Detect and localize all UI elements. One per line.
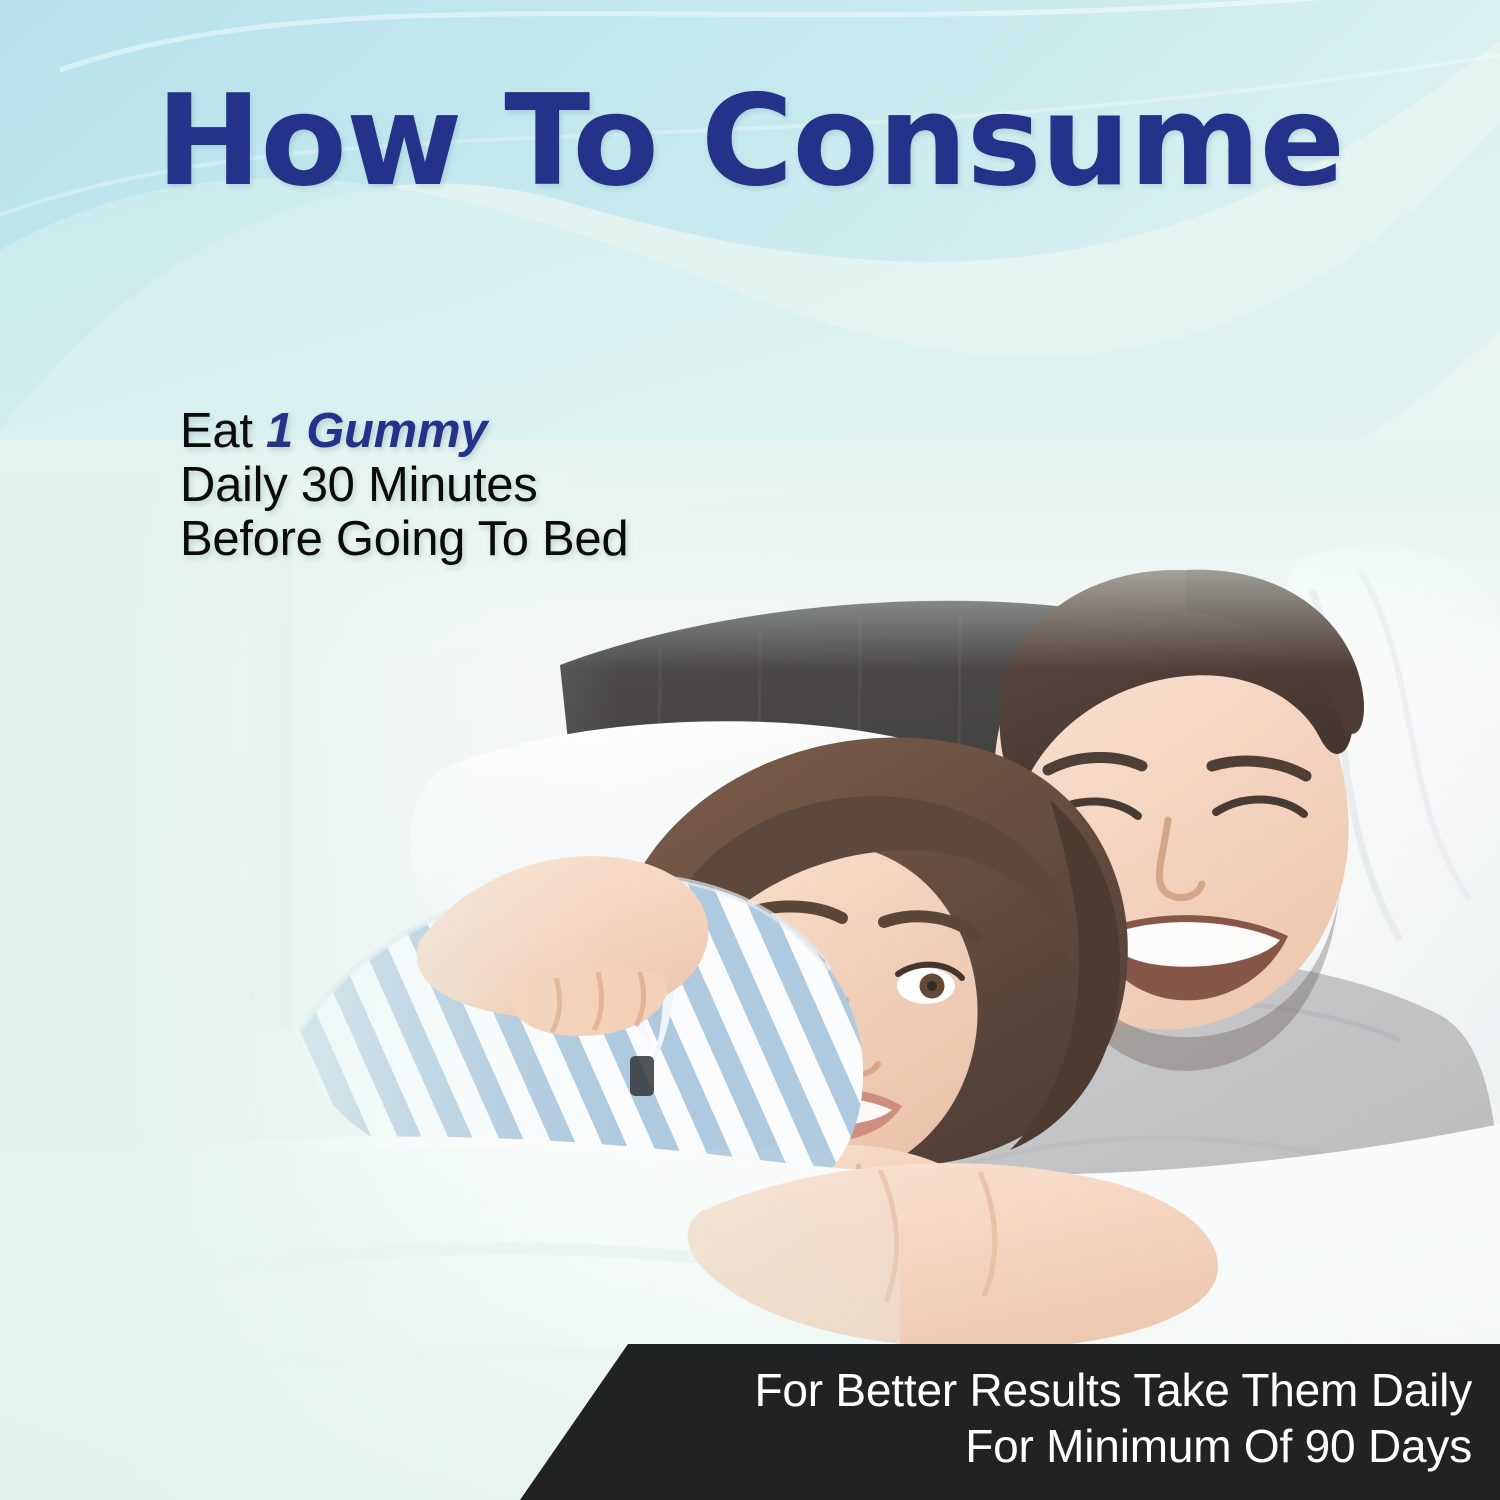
instruction-line-2: Daily 30 Minutes — [180, 458, 628, 512]
banner-line-2: For Minimum Of 90 Days — [754, 1418, 1472, 1474]
instruction-line-1: Eat 1 Gummy — [180, 404, 628, 458]
page-title: How To Consume — [0, 78, 1500, 204]
instruction-line-1-prefix: Eat — [180, 404, 266, 458]
bottom-banner: For Better Results Take Them Daily For M… — [0, 1344, 1500, 1500]
consumption-instructions: Eat 1 Gummy Daily 30 Minutes Before Goin… — [180, 404, 628, 566]
poster-canvas: How To Consume Eat 1 Gummy Daily 30 Minu… — [0, 0, 1500, 1500]
banner-line-1: For Better Results Take Them Daily — [754, 1362, 1472, 1418]
instruction-line-3: Before Going To Bed — [180, 512, 628, 566]
instruction-dose-emphasis: 1 Gummy — [266, 404, 487, 458]
banner-message: For Better Results Take Them Daily For M… — [754, 1362, 1472, 1474]
